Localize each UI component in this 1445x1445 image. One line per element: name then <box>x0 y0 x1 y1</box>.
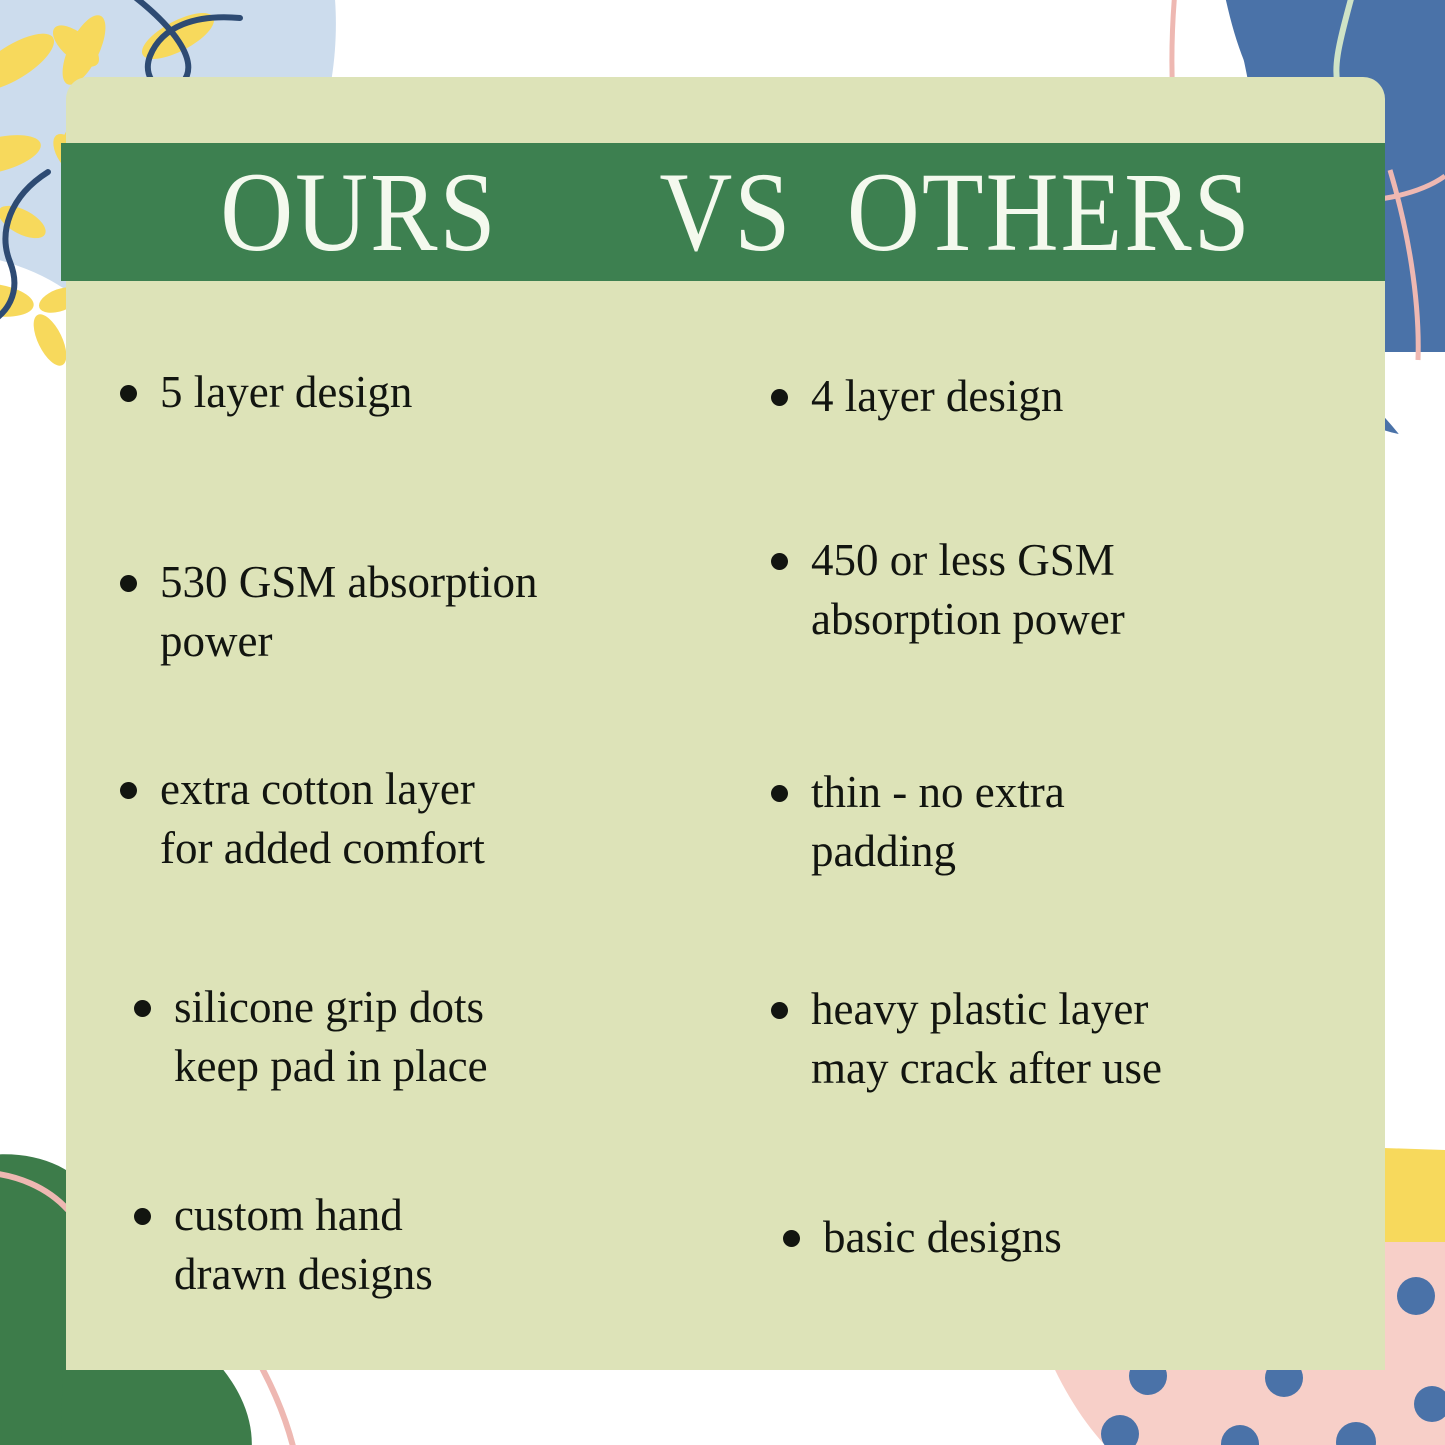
list-item-label: heavy plastic layer may crack after use <box>811 980 1162 1097</box>
list-item: silicone grip dots keep pad in place <box>134 978 488 1095</box>
bullet-dot-icon <box>771 553 788 570</box>
list-item: thin - no extra padding <box>771 763 1065 880</box>
list-item-label: extra cotton layer for added comfort <box>160 760 485 877</box>
bullet-dot-icon <box>134 1208 151 1225</box>
list-item-label: 530 GSM absorption power <box>160 553 538 670</box>
list-item-label: 4 layer design <box>811 367 1063 426</box>
bullet-dot-icon <box>771 1002 788 1019</box>
column-others: 4 layer design 450 or less GSM absorptio… <box>771 363 1385 1370</box>
bullet-dot-icon <box>120 385 137 402</box>
list-item: 450 or less GSM absorption power <box>771 531 1125 648</box>
list-item: extra cotton layer for added comfort <box>120 760 485 877</box>
list-item-label: silicone grip dots keep pad in place <box>174 978 488 1095</box>
list-item: 5 layer design <box>120 363 412 422</box>
list-item: custom hand drawn designs <box>134 1186 433 1303</box>
bullet-dot-icon <box>120 575 137 592</box>
bullet-dot-icon <box>134 1000 151 1017</box>
list-item-label: thin - no extra padding <box>811 763 1065 880</box>
list-item-label: 5 layer design <box>160 363 412 422</box>
list-item: 530 GSM absorption power <box>120 553 538 670</box>
banner-title: OURS VS OTHERS <box>194 155 1252 268</box>
list-item-label: 450 or less GSM absorption power <box>811 531 1125 648</box>
bullet-dot-icon <box>120 782 137 799</box>
bullet-dot-icon <box>771 785 788 802</box>
bullet-dot-icon <box>771 389 788 406</box>
list-item: heavy plastic layer may crack after use <box>771 980 1162 1097</box>
list-item-label: custom hand drawn designs <box>174 1186 433 1303</box>
list-item: basic designs <box>783 1208 1062 1267</box>
bullet-dot-icon <box>783 1230 800 1247</box>
list-item: 4 layer design <box>771 367 1063 426</box>
title-banner: OURS VS OTHERS <box>61 143 1385 281</box>
column-ours: 5 layer design 530 GSM absorption power … <box>66 363 771 1370</box>
list-item-label: basic designs <box>823 1208 1062 1267</box>
comparison-columns: 5 layer design 530 GSM absorption power … <box>66 281 1385 1370</box>
